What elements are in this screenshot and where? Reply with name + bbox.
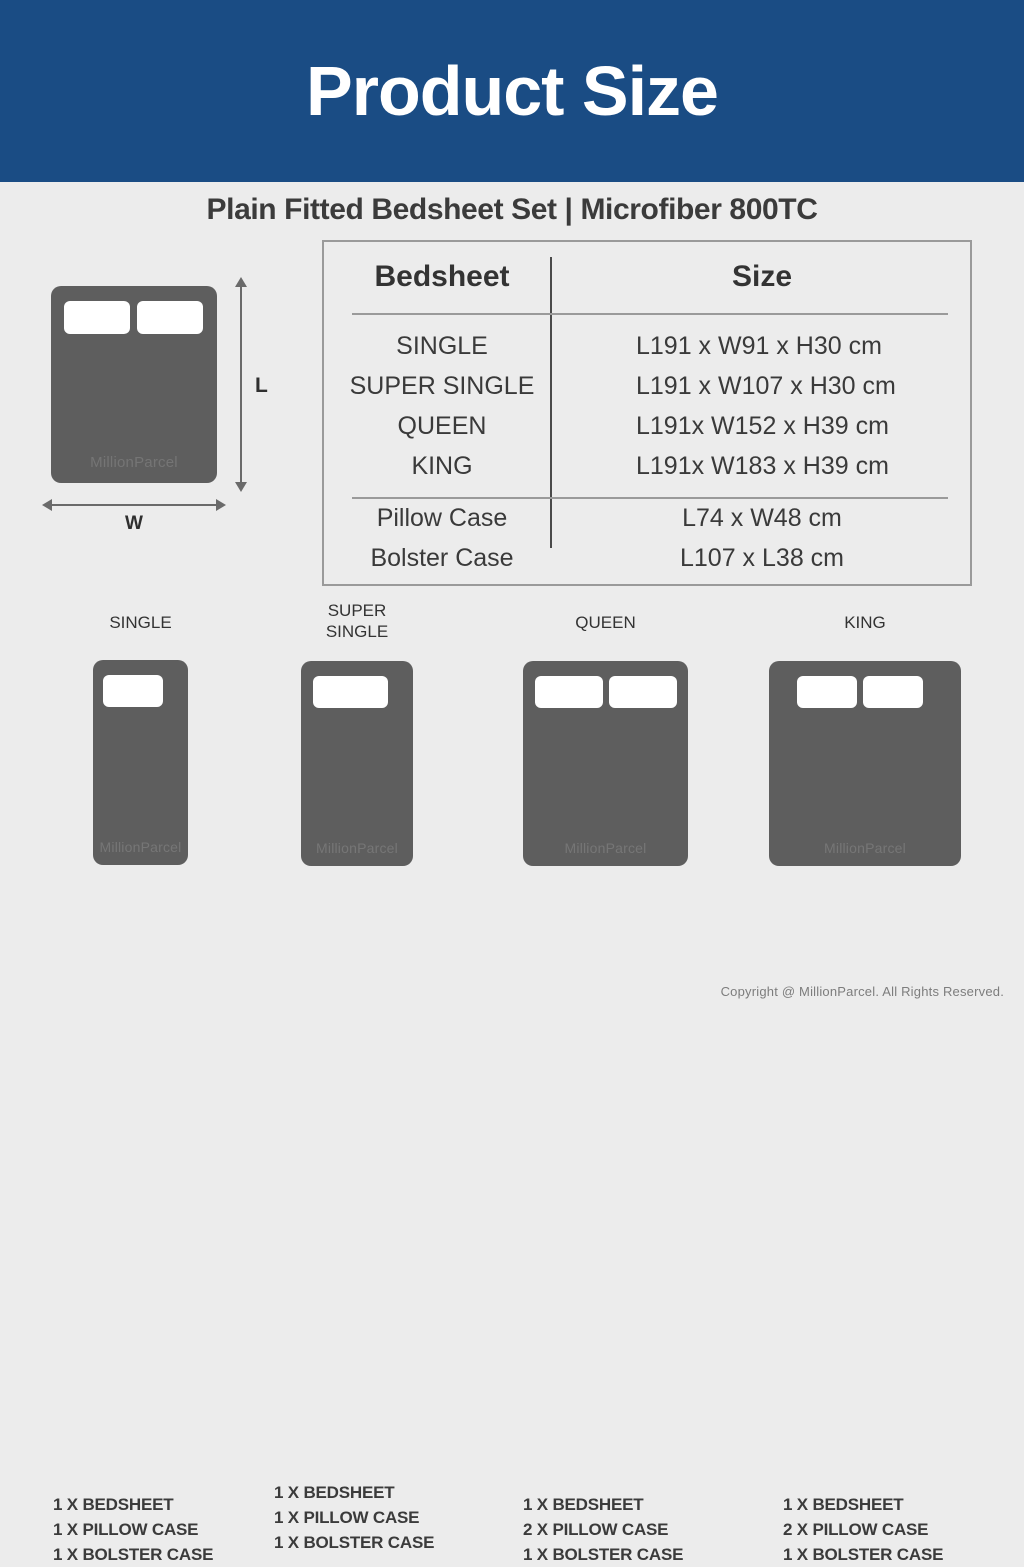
table-header-size: Size [552,260,972,294]
pillow-icon [64,301,130,334]
contents-line: 1 X BEDSHEET [274,1480,434,1505]
size-card-label-line: SINGLE [272,621,442,642]
size-card-contents: 1 X BEDSHEET 1 X PILLOW CASE 1 X BOLSTER… [53,1492,213,1567]
length-arrow-icon [240,286,242,483]
pillow-icon [863,676,923,708]
table-cell-size: L107 x L38 cm [552,544,972,573]
watermark-text: MillionParcel [523,840,688,856]
table-cell-name: Pillow Case [334,504,550,533]
pillow-icon [137,301,203,334]
contents-line: 1 X PILLOW CASE [53,1517,213,1542]
table-cell-name: SUPER SINGLE [334,372,550,401]
table-header-bedsheet: Bedsheet [334,260,550,294]
pillow-icon [313,676,388,708]
contents-line: 2 X PILLOW CASE [523,1517,683,1542]
watermark-text: MillionParcel [769,840,961,856]
table-row: Bolster Case L107 x L38 cm [324,544,974,584]
contents-line: 1 X PILLOW CASE [274,1505,434,1530]
table-cell-size: L191 x W91 x H30 cm [552,332,972,361]
table-header-divider [352,313,948,315]
pillow-icon [103,675,163,707]
bed-shape-single: MillionParcel [93,660,188,865]
table-row: SUPER SINGLE L191 x W107 x H30 cm [324,372,974,412]
contents-line: 1 X BEDSHEET [53,1492,213,1517]
table-row: Pillow Case L74 x W48 cm [324,504,974,544]
table-row: SINGLE L191 x W91 x H30 cm [324,332,974,372]
table-cell-name: Bolster Case [334,544,550,573]
contents-line: 1 X BOLSTER CASE [783,1542,943,1567]
table-row: KING L191x W183 x H39 cm [324,452,974,492]
size-card-label-line: QUEEN [523,612,688,633]
product-subtitle: Plain Fitted Bedsheet Set | Microfiber 8… [0,193,1024,227]
size-card-contents: 1 X BEDSHEET 1 X PILLOW CASE 1 X BOLSTER… [274,1480,434,1555]
table-cell-name: KING [334,452,550,481]
reference-bed-shape: MillionParcel [51,286,217,483]
table-cell-name: QUEEN [334,412,550,441]
table-row: QUEEN L191x W152 x H39 cm [324,412,974,452]
width-arrow-icon [51,504,217,506]
table-cell-size: L191x W183 x H39 cm [552,452,972,481]
width-label: W [51,513,217,535]
contents-line: 1 X BEDSHEET [783,1492,943,1517]
contents-line: 1 X BEDSHEET [523,1492,683,1517]
table-cell-size: L74 x W48 cm [552,504,972,533]
bed-shape-super-single: MillionParcel [301,661,413,866]
watermark-text: MillionParcel [301,840,413,856]
size-card-label-line: SUPER [272,600,442,621]
size-card-label: SUPER SINGLE [272,600,442,643]
size-table: Bedsheet Size SINGLE L191 x W91 x H30 cm… [322,240,972,586]
bed-shape-queen: MillionParcel [523,661,688,866]
watermark-text: MillionParcel [93,839,188,855]
table-cell-size: L191 x W107 x H30 cm [552,372,972,401]
pillow-icon [609,676,677,708]
watermark-text: MillionParcel [51,454,217,471]
contents-line: 1 X BOLSTER CASE [274,1530,434,1555]
table-cell-size: L191x W152 x H39 cm [552,412,972,441]
pillow-icon [535,676,603,708]
copyright-notice: Copyright @ MillionParcel. All Rights Re… [721,984,1004,999]
table-cell-name: SINGLE [334,332,550,361]
pillow-icon [797,676,857,708]
table-section-divider [352,497,948,499]
size-card-contents: 1 X BEDSHEET 2 X PILLOW CASE 1 X BOLSTER… [783,1492,943,1567]
size-card-label-line: SINGLE [53,612,228,633]
size-card-label: QUEEN [523,612,688,633]
contents-line: 1 X BOLSTER CASE [53,1542,213,1567]
length-label: L [255,374,268,398]
reference-bed-diagram: MillionParcel L W [40,275,300,540]
size-card-label: SINGLE [53,612,228,633]
header-banner: Product Size [0,0,1024,182]
contents-line: 1 X BOLSTER CASE [523,1542,683,1567]
size-card-contents: 1 X BEDSHEET 2 X PILLOW CASE 1 X BOLSTER… [523,1492,683,1567]
size-card-label-line: KING [769,612,961,633]
bed-shape-king: MillionParcel [769,661,961,866]
size-card-label: KING [769,612,961,633]
page-title: Product Size [306,56,718,126]
contents-line: 2 X PILLOW CASE [783,1517,943,1542]
